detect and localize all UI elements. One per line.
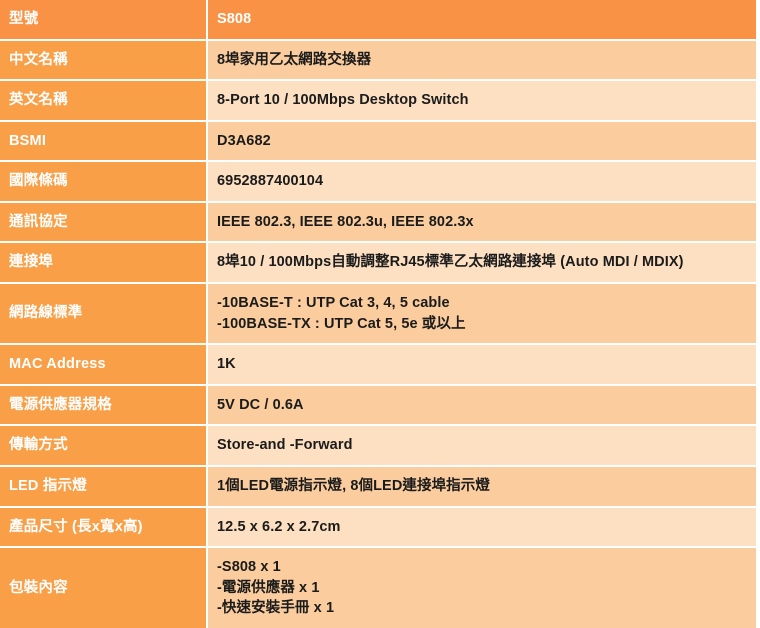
spec-label-cell: 國際條碼 [0, 162, 208, 203]
spec-row: 中文名稱8埠家用乙太網路交換器 [0, 41, 756, 82]
spec-label-cell: 產品尺寸 (長x寬x高) [0, 508, 208, 549]
spec-row: 傳輸方式Store-and -Forward [0, 426, 756, 467]
spec-row: 包裝內容-S808 x 1 -電源供應器 x 1 -快速安裝手冊 x 1 [0, 548, 756, 628]
spec-row: 國際條碼6952887400104 [0, 162, 756, 203]
spec-row: 網路線標準-10BASE-T : UTP Cat 3, 4, 5 cable -… [0, 284, 756, 345]
spec-value-cell: S808 [208, 0, 756, 41]
spec-value-cell: 1K [208, 345, 756, 386]
spec-label-cell: BSMI [0, 122, 208, 163]
spec-row: 英文名稱8-Port 10 / 100Mbps Desktop Switch [0, 81, 756, 122]
spec-row: LED 指示燈1個LED電源指示燈, 8個LED連接埠指示燈 [0, 467, 756, 508]
spec-label-cell: 傳輸方式 [0, 426, 208, 467]
spec-value-cell: IEEE 802.3, IEEE 802.3u, IEEE 802.3x [208, 203, 756, 244]
spec-value-cell: 12.5 x 6.2 x 2.7cm [208, 508, 756, 549]
spec-value-cell: 1個LED電源指示燈, 8個LED連接埠指示燈 [208, 467, 756, 508]
spec-label-cell: LED 指示燈 [0, 467, 208, 508]
spec-value-cell: 8埠家用乙太網路交換器 [208, 41, 756, 82]
product-spec-table: 型號S808中文名稱8埠家用乙太網路交換器英文名稱8-Port 10 / 100… [0, 0, 756, 628]
spec-row: 連接埠8埠10 / 100Mbps自動調整RJ45標準乙太網路連接埠 (Auto… [0, 243, 756, 284]
spec-value-cell: D3A682 [208, 122, 756, 163]
spec-label-cell: 型號 [0, 0, 208, 41]
spec-label-cell: 英文名稱 [0, 81, 208, 122]
spec-label-cell: 中文名稱 [0, 41, 208, 82]
spec-row: MAC Address1K [0, 345, 756, 386]
spec-table-body: 型號S808中文名稱8埠家用乙太網路交換器英文名稱8-Port 10 / 100… [0, 0, 756, 628]
spec-label-cell: 連接埠 [0, 243, 208, 284]
spec-row: 產品尺寸 (長x寬x高)12.5 x 6.2 x 2.7cm [0, 508, 756, 549]
spec-value-cell: 8埠10 / 100Mbps自動調整RJ45標準乙太網路連接埠 (Auto MD… [208, 243, 756, 284]
spec-label-cell: 通訊協定 [0, 203, 208, 244]
spec-label-cell: 網路線標準 [0, 284, 208, 345]
spec-row: BSMID3A682 [0, 122, 756, 163]
spec-value-cell: 5V DC / 0.6A [208, 386, 756, 427]
spec-row: 通訊協定IEEE 802.3, IEEE 802.3u, IEEE 802.3x [0, 203, 756, 244]
spec-label-cell: MAC Address [0, 345, 208, 386]
spec-value-cell: -10BASE-T : UTP Cat 3, 4, 5 cable -100BA… [208, 284, 756, 345]
spec-row: 電源供應器規格5V DC / 0.6A [0, 386, 756, 427]
spec-value-cell: 6952887400104 [208, 162, 756, 203]
spec-value-cell: 8-Port 10 / 100Mbps Desktop Switch [208, 81, 756, 122]
spec-row: 型號S808 [0, 0, 756, 41]
spec-value-cell: -S808 x 1 -電源供應器 x 1 -快速安裝手冊 x 1 [208, 548, 756, 628]
spec-label-cell: 包裝內容 [0, 548, 208, 628]
spec-value-cell: Store-and -Forward [208, 426, 756, 467]
spec-label-cell: 電源供應器規格 [0, 386, 208, 427]
